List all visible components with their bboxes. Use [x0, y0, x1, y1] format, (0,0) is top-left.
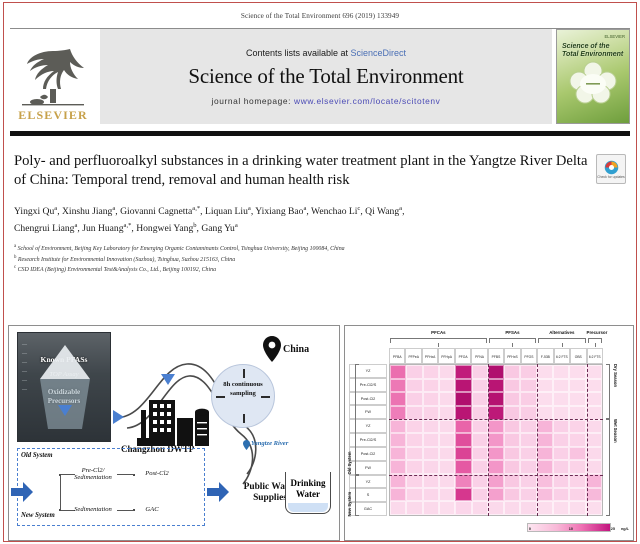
page-title: Poly- and perfluoroalkyl substances in a…	[14, 152, 590, 190]
affiliation-item: a School of Environment, Beijing Key Lab…	[14, 243, 626, 253]
heatmap-cell[interactable]	[586, 501, 602, 515]
heatmap-cell[interactable]	[455, 420, 471, 434]
heatmap-cell[interactable]	[390, 420, 406, 434]
heatmap-system-label: Old System	[347, 364, 352, 475]
heatmap-group-label: Alternatives	[537, 330, 586, 335]
heatmap-cell[interactable]	[455, 365, 471, 379]
elsevier-logo: ELSEVIER	[10, 29, 96, 124]
heatmap-cell[interactable]	[406, 501, 422, 515]
heatmap-column-label: PFHxS	[504, 348, 520, 364]
heatmap-cell[interactable]	[537, 379, 553, 393]
heatmap-cell[interactable]	[553, 474, 569, 488]
affiliation-item: c CSD IDEA (Beijing) Environmental Test&…	[14, 264, 626, 274]
heatmap-group-stem	[512, 343, 513, 347]
masthead-divider	[10, 131, 630, 136]
heatmap-cell[interactable]	[537, 474, 553, 488]
heatmap-season-bracket	[606, 364, 610, 419]
heatmap-cell[interactable]	[439, 447, 455, 461]
heatmap-cell[interactable]	[390, 433, 406, 447]
heatmap-cell[interactable]	[439, 406, 455, 420]
heatmap-cell[interactable]	[586, 488, 602, 502]
heatmap-cell[interactable]	[423, 392, 439, 406]
heatmap-season-label: Dry Season	[613, 364, 618, 419]
heatmap-cell[interactable]	[504, 474, 520, 488]
heatmap-column-label: PFOA	[455, 348, 471, 364]
graphical-abstract: —————— Known PFASs TOP Assay Oxidizable …	[8, 325, 634, 541]
heatmap-cell[interactable]	[423, 447, 439, 461]
heatmap-cell[interactable]	[390, 365, 406, 379]
pre-cl2-label: Pre-Cl2/ Sedimentation	[67, 467, 119, 481]
author-line-2: Chengrui Lianga, Jun Huanga,*, Hongwei Y…	[14, 219, 626, 236]
heatmap-cell[interactable]	[586, 420, 602, 434]
heatmap-cell[interactable]	[537, 433, 553, 447]
inflow-arrow-icon	[11, 482, 33, 502]
heatmap-cell[interactable]	[488, 474, 504, 488]
heatmap-cell[interactable]	[520, 420, 536, 434]
heatmap-cell[interactable]	[455, 460, 471, 474]
heatmap-cell[interactable]	[520, 501, 536, 515]
heatmap-cell[interactable]	[423, 406, 439, 420]
heatmap-cell[interactable]	[569, 460, 585, 474]
dw-line-1: Drinking	[290, 478, 325, 488]
author-list: Yingxi Qua, Xinshu Jianga, Giovanni Cagn…	[14, 202, 626, 236]
heatmap-cell[interactable]	[406, 433, 422, 447]
heatmap-group-divider	[587, 364, 588, 516]
heatmap-cell[interactable]	[586, 365, 602, 379]
heatmap-cell[interactable]	[423, 474, 439, 488]
heatmap-cell[interactable]	[520, 406, 536, 420]
heatmap-cell[interactable]	[586, 474, 602, 488]
heatmap-cell[interactable]	[537, 501, 553, 515]
heatmap-cell[interactable]	[472, 365, 488, 379]
heatmap-season-divider	[389, 419, 603, 420]
article-page: Science of the Total Environment 696 (20…	[3, 2, 637, 542]
heatmap-group-label: PFSAs	[488, 330, 537, 335]
heatmap-cell[interactable]	[439, 474, 455, 488]
heatmap-cell[interactable]	[439, 365, 455, 379]
heatmap-cell[interactable]	[455, 379, 471, 393]
heatmap-cell[interactable]	[586, 379, 602, 393]
sampling-clock-label: 8h continuous sampling	[199, 380, 287, 398]
heatmap-cell[interactable]	[423, 501, 439, 515]
heatmap-cell[interactable]	[439, 501, 455, 515]
process-diagram-panel: —————— Known PFASs TOP Assay Oxidizable …	[8, 325, 340, 541]
heatmap-cell[interactable]	[390, 474, 406, 488]
heatmap-cell[interactable]	[586, 392, 602, 406]
colorbar-tick: 10	[569, 527, 573, 531]
heatmap-group-divider	[488, 364, 489, 516]
heatmap-cell[interactable]	[569, 392, 585, 406]
heatmap-system-bracket	[355, 364, 359, 475]
heatmap-cell[interactable]	[455, 447, 471, 461]
iceberg-image: —————— Known PFASs TOP Assay Oxidizable …	[17, 332, 111, 442]
heatmap-column-label: OBS	[570, 348, 586, 364]
heatmap-cell[interactable]	[472, 501, 488, 515]
crossmark-badge[interactable]: Check for updates	[596, 154, 626, 184]
sciencedirect-link[interactable]: ScienceDirect	[351, 48, 407, 58]
heatmap-cell[interactable]	[504, 501, 520, 515]
elsevier-tree-icon	[20, 47, 86, 109]
heatmap-cell[interactable]	[488, 488, 504, 502]
heatmap-cell[interactable]	[504, 379, 520, 393]
heatmap-cell[interactable]	[439, 392, 455, 406]
heatmap-cell[interactable]	[406, 379, 422, 393]
contents-band: Contents lists available at ScienceDirec…	[100, 29, 552, 124]
heatmap-cell[interactable]	[537, 406, 553, 420]
heatmap-cell[interactable]	[586, 406, 602, 420]
heatmap-cell[interactable]	[439, 460, 455, 474]
journal-cover-thumbnail[interactable]: ELSEVIER Science of the Total Environmen…	[556, 29, 630, 124]
heatmap-cell[interactable]	[406, 488, 422, 502]
heatmap-cell[interactable]	[439, 433, 455, 447]
heatmap-group-divider	[537, 364, 538, 516]
heatmap-grid[interactable]	[389, 364, 603, 516]
heatmap-column-label: PFHxA	[422, 348, 438, 364]
heatmap-cell[interactable]	[406, 392, 422, 406]
gac-label: GAC	[137, 506, 167, 513]
heatmap-cell[interactable]	[488, 460, 504, 474]
heatmap-cell[interactable]	[586, 433, 602, 447]
heatmap-cell[interactable]	[455, 488, 471, 502]
heatmap-cell[interactable]	[569, 406, 585, 420]
heatmap-cell[interactable]	[406, 420, 422, 434]
heatmap-cell[interactable]	[520, 433, 536, 447]
heatmap-cell[interactable]	[390, 460, 406, 474]
journal-masthead: ELSEVIER Contents lists available at Sci…	[10, 28, 630, 124]
heatmap-cell[interactable]	[439, 420, 455, 434]
heatmap-cell[interactable]	[569, 420, 585, 434]
cover-corner-logo: ELSEVIER	[605, 34, 625, 39]
heatmap-cell[interactable]	[504, 406, 520, 420]
colorbar-tick: 25	[611, 527, 615, 531]
heatmap-cell[interactable]	[439, 488, 455, 502]
heatmap-cell[interactable]	[390, 447, 406, 461]
heatmap-cell[interactable]	[455, 406, 471, 420]
crossmark-label: Check for updates	[597, 175, 625, 179]
heatmap-cell[interactable]	[472, 433, 488, 447]
new-system-label: New System	[21, 512, 55, 519]
heatmap-cell[interactable]	[553, 420, 569, 434]
journal-homepage-line: journal homepage: www.elsevier.com/locat…	[212, 96, 441, 106]
heatmap-column-label: 6:2 FTS	[587, 348, 603, 364]
old-system-label: Old System	[21, 452, 53, 459]
heatmap-cell[interactable]	[520, 365, 536, 379]
heatmap-group-stem	[595, 343, 596, 347]
heatmap-cell[interactable]	[390, 379, 406, 393]
cover-flower-icon	[568, 60, 618, 104]
heatmap-cell[interactable]	[537, 488, 553, 502]
heatmap-cell[interactable]	[569, 474, 585, 488]
sedimentation-label: Sedimentation	[65, 506, 121, 513]
heatmap-cell[interactable]	[504, 365, 520, 379]
heatmap-cell[interactable]	[553, 501, 569, 515]
elsevier-wordmark: ELSEVIER	[18, 109, 88, 122]
heatmap-cell[interactable]	[472, 460, 488, 474]
heatmap-cell[interactable]	[553, 433, 569, 447]
heatmap-cell[interactable]	[455, 501, 471, 515]
heatmap-cell[interactable]	[439, 379, 455, 393]
heatmap-system-label: New System	[347, 475, 352, 516]
pre-cl2-line-2: Sedimentation	[74, 474, 112, 481]
heatmap-cell[interactable]	[472, 447, 488, 461]
heatmap-cell[interactable]	[472, 392, 488, 406]
heatmap-cell[interactable]	[406, 474, 422, 488]
heatmap-cell[interactable]	[553, 392, 569, 406]
affiliation-item: b Research Institute for Environmental I…	[14, 254, 626, 264]
yangtze-pin-icon	[243, 440, 250, 450]
heatmap-cell[interactable]	[553, 379, 569, 393]
crossmark-icon	[604, 160, 619, 175]
china-label: China	[283, 344, 309, 355]
heatmap-group-label: Precursor	[587, 330, 603, 335]
heatmap-cell[interactable]	[520, 488, 536, 502]
yangtze-label: Yangtze River	[251, 440, 288, 447]
heatmap-column-label: PFOS	[521, 348, 537, 364]
heatmap-cell[interactable]	[520, 392, 536, 406]
heatmap-cell[interactable]	[537, 460, 553, 474]
title-block: Poly- and perfluoroalkyl substances in a…	[14, 152, 626, 190]
to-supply-arrow-icon	[207, 482, 229, 502]
sampling-line-1: 8h continuous	[223, 381, 262, 388]
sampling-line-2: sampling	[230, 390, 256, 397]
heatmap-cell[interactable]	[520, 474, 536, 488]
china-map-pin-icon	[263, 336, 281, 362]
running-head: Science of the Total Environment 696 (20…	[4, 3, 636, 20]
heatmap-column-label: PFHpA	[438, 348, 454, 364]
heatmap-cell[interactable]	[537, 392, 553, 406]
heatmap-cell[interactable]	[472, 474, 488, 488]
heatmap-cell[interactable]	[537, 447, 553, 461]
glass-water-fill	[288, 503, 328, 512]
heatmap-cell[interactable]	[423, 460, 439, 474]
heatmap-cell[interactable]	[423, 365, 439, 379]
heatmap-cell[interactable]	[488, 406, 504, 420]
heatmap-column-label: PFBA	[389, 348, 405, 364]
heatmap-cell[interactable]	[504, 447, 520, 461]
heatmap-cell[interactable]	[504, 433, 520, 447]
heatmap-cell[interactable]	[520, 447, 536, 461]
iceberg-shape	[18, 333, 112, 443]
heatmap-system-bracket	[355, 475, 359, 516]
homepage-url-link[interactable]: www.elsevier.com/locate/scitotenv	[294, 96, 440, 106]
heatmap-cell[interactable]	[520, 460, 536, 474]
heatmap-cell[interactable]	[472, 488, 488, 502]
heatmap-cell[interactable]	[586, 460, 602, 474]
heatmap-cell[interactable]	[553, 365, 569, 379]
heatmap-cell[interactable]	[553, 488, 569, 502]
post-cl2-label: Post-Cl2	[135, 470, 179, 477]
author-line-1: Yingxi Qua, Xinshu Jianga, Giovanni Cagn…	[14, 202, 626, 219]
heatmap-cell[interactable]	[553, 406, 569, 420]
heatmap-cell[interactable]	[423, 488, 439, 502]
heatmap-cell[interactable]	[488, 365, 504, 379]
heatmap-cell[interactable]	[390, 406, 406, 420]
heatmap-column-label: PFBS	[488, 348, 504, 364]
drinking-water-label: Drinking Water	[281, 478, 335, 500]
heatmap-season-bracket	[606, 419, 610, 516]
heatmap-figure: PFCAsPFSAsAlternativesPrecursor PFBAPFPe…	[345, 326, 633, 540]
heatmap-cell[interactable]	[537, 365, 553, 379]
heatmap-cell[interactable]	[488, 392, 504, 406]
heatmap-cell[interactable]	[569, 379, 585, 393]
colorbar-unit-label: ng/L	[621, 527, 629, 531]
heatmap-panel: PFCAsPFSAsAlternativesPrecursor PFBAPFPe…	[344, 325, 634, 541]
contents-available-line: Contents lists available at ScienceDirec…	[246, 48, 406, 58]
heatmap-cell[interactable]	[520, 379, 536, 393]
heatmap-cell[interactable]	[553, 460, 569, 474]
heatmap-cell[interactable]	[423, 433, 439, 447]
pre-cl2-line-1: Pre-Cl2/	[82, 467, 105, 474]
dw-line-2: Water	[296, 489, 320, 499]
heatmap-cell[interactable]	[390, 392, 406, 406]
contents-prefix: Contents lists available at	[246, 48, 351, 58]
iceberg-to-river-arrow-icon	[113, 410, 124, 424]
heatmap-cell[interactable]	[455, 392, 471, 406]
heatmap-cell[interactable]	[472, 406, 488, 420]
heatmap-cell[interactable]	[504, 488, 520, 502]
iceberg-down-arrow-icon	[58, 405, 72, 416]
heatmap-cell[interactable]	[504, 392, 520, 406]
heatmap-cell[interactable]	[586, 447, 602, 461]
heatmap-cell[interactable]	[423, 420, 439, 434]
heatmap-cell[interactable]	[553, 447, 569, 461]
heatmap-cell[interactable]	[569, 365, 585, 379]
heatmap-cell[interactable]	[488, 433, 504, 447]
heatmap-cell[interactable]	[488, 379, 504, 393]
heatmap-season-divider	[389, 475, 603, 476]
journal-title: Science of the Total Environment	[188, 64, 463, 89]
heatmap-cell[interactable]	[390, 488, 406, 502]
affiliation-list: a School of Environment, Beijing Key Lab…	[14, 243, 626, 274]
heatmap-cell[interactable]	[390, 501, 406, 515]
heatmap-cell[interactable]	[569, 433, 585, 447]
heatmap-cell[interactable]	[455, 474, 471, 488]
heatmap-cell[interactable]	[504, 420, 520, 434]
heatmap-cell[interactable]	[488, 420, 504, 434]
heatmap-column-label: F-53B	[537, 348, 553, 364]
heatmap-cell[interactable]	[406, 460, 422, 474]
heatmap-group-stem	[562, 343, 563, 347]
heatmap-cell[interactable]	[406, 447, 422, 461]
heatmap-group-stem	[438, 343, 439, 347]
heatmap-cell[interactable]	[406, 406, 422, 420]
heatmap-cell[interactable]	[569, 501, 585, 515]
river-down-arrow-icon	[161, 374, 175, 385]
heatmap-cell[interactable]	[504, 460, 520, 474]
heatmap-cell[interactable]	[423, 379, 439, 393]
heatmap-cell[interactable]	[537, 420, 553, 434]
heatmap-cell[interactable]	[455, 433, 471, 447]
colorbar-tick: 0	[529, 527, 531, 531]
heatmap-cell[interactable]	[472, 420, 488, 434]
heatmap-cell[interactable]	[488, 501, 504, 515]
homepage-prefix: journal homepage:	[212, 96, 295, 106]
heatmap-cell[interactable]	[472, 379, 488, 393]
heatmap-cell[interactable]	[406, 365, 422, 379]
heatmap-group-label: PFCAs	[389, 330, 488, 335]
heatmap-cell[interactable]	[488, 447, 504, 461]
cover-title-text: Science of the Total Environment	[562, 43, 625, 59]
heatmap-column-label: PFNA	[471, 348, 487, 364]
heatmap-season-label: Wet Season	[613, 419, 618, 516]
heatmap-cell[interactable]	[569, 488, 585, 502]
heatmap-cell[interactable]	[569, 447, 585, 461]
heatmap-column-label: 6:2 FTS	[554, 348, 570, 364]
heatmap-column-label: PFPeA	[405, 348, 421, 364]
